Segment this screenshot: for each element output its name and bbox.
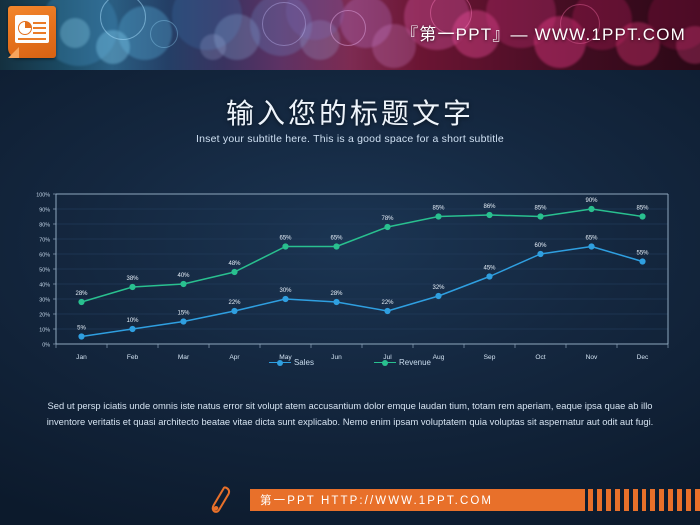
bokeh-circle <box>60 18 90 48</box>
data-label: 65% <box>585 236 598 242</box>
y-axis-label: 0% <box>42 342 50 348</box>
powerpoint-icon-line <box>33 22 46 24</box>
footer-stripe <box>668 489 673 511</box>
footer-stripe <box>650 489 655 511</box>
powerpoint-icon-line <box>33 32 46 34</box>
data-label: 86% <box>483 204 496 210</box>
data-point[interactable] <box>333 299 339 305</box>
footer-stripe <box>633 489 638 511</box>
y-axis-label: 30% <box>39 297 50 303</box>
footer-stripe <box>642 489 647 511</box>
data-label: 90% <box>585 198 598 204</box>
footer-stripe <box>615 489 620 511</box>
powerpoint-icon-document <box>15 15 49 43</box>
data-label: 28% <box>330 291 343 297</box>
data-point[interactable] <box>537 251 543 257</box>
data-label: 60% <box>534 243 547 249</box>
powerpoint-icon-line <box>33 27 46 29</box>
data-label: 5% <box>77 326 86 332</box>
data-point[interactable] <box>639 258 645 264</box>
data-label: 85% <box>636 206 649 212</box>
footer: 第一PPT HTTP://WWW.1PPT.COM <box>0 475 700 525</box>
slide-canvas: 『第一PPT』— WWW.1PPT.COM 输入您的标题文字 Inset you… <box>0 0 700 525</box>
data-point[interactable] <box>180 281 186 287</box>
page-title: 输入您的标题文字 <box>0 92 700 132</box>
data-label: 10% <box>126 318 139 324</box>
y-axis-label: 70% <box>39 237 50 243</box>
legend-marker-sales <box>269 359 291 367</box>
data-point[interactable] <box>78 333 84 339</box>
y-axis-label: 100% <box>36 192 50 198</box>
footer-url-bar: 第一PPT HTTP://WWW.1PPT.COM <box>250 489 585 511</box>
data-point[interactable] <box>282 296 288 302</box>
data-point[interactable] <box>435 293 441 299</box>
data-label: 22% <box>381 300 394 306</box>
legend-label: Revenue <box>399 358 431 367</box>
y-axis-label: 50% <box>39 267 50 273</box>
data-label: 55% <box>636 251 649 257</box>
bokeh-circle <box>200 34 226 60</box>
legend-item-revenue[interactable]: Revenue <box>374 358 431 367</box>
series-line-revenue <box>82 209 643 302</box>
data-point[interactable] <box>78 299 84 305</box>
data-point[interactable] <box>180 318 186 324</box>
chart-value-labels: 5%10%15%22%30%28%22%32%45%60%65%55%28%38… <box>75 198 649 332</box>
series-line-sales <box>82 247 643 337</box>
powerpoint-icon <box>8 6 56 58</box>
data-point[interactable] <box>231 269 237 275</box>
chart-legend: SalesRevenue <box>0 358 700 367</box>
data-label: 78% <box>381 216 394 222</box>
bokeh-ring <box>150 20 178 48</box>
data-point[interactable] <box>129 284 135 290</box>
data-point[interactable] <box>435 213 441 219</box>
chart-series <box>78 206 645 340</box>
chart-gridlines <box>53 194 668 344</box>
powerpoint-icon-pie <box>18 21 32 35</box>
legend-item-sales[interactable]: Sales <box>269 358 314 367</box>
y-axis-label: 60% <box>39 252 50 258</box>
y-axis-label: 90% <box>39 207 50 213</box>
data-label: 15% <box>177 311 190 317</box>
data-label: 22% <box>228 300 241 306</box>
data-point[interactable] <box>486 212 492 218</box>
data-label: 28% <box>75 291 88 297</box>
data-label: 85% <box>534 206 547 212</box>
data-point[interactable] <box>333 243 339 249</box>
footer-stripe <box>677 489 682 511</box>
data-label: 30% <box>279 288 292 294</box>
line-chart: 0%10%20%30%40%50%60%70%80%90%100% 5%10%1… <box>26 186 676 376</box>
data-label: 65% <box>330 236 343 242</box>
legend-marker-revenue <box>374 359 396 367</box>
y-axis-label: 40% <box>39 282 50 288</box>
data-label: 48% <box>228 261 241 267</box>
y-axis-label: 10% <box>39 327 50 333</box>
data-point[interactable] <box>588 206 594 212</box>
chart-x-axis-ticks <box>56 344 668 348</box>
footer-stripe <box>597 489 602 511</box>
footer-stripes <box>588 489 700 511</box>
page-subtitle: Inset your subtitle here. This is a good… <box>0 133 700 145</box>
data-label: 38% <box>126 276 139 282</box>
body-paragraph: Sed ut persp iciatis unde omnis iste nat… <box>34 398 666 430</box>
data-label: 32% <box>432 285 445 291</box>
top-banner: 『第一PPT』— WWW.1PPT.COM <box>0 0 700 70</box>
data-point[interactable] <box>537 213 543 219</box>
footer-stripe <box>606 489 611 511</box>
chart-y-axis-labels: 0%10%20%30%40%50%60%70%80%90%100% <box>36 192 50 348</box>
data-point[interactable] <box>282 243 288 249</box>
footer-stripe <box>624 489 629 511</box>
data-point[interactable] <box>129 326 135 332</box>
legend-label: Sales <box>294 358 314 367</box>
footer-stripe <box>695 489 700 511</box>
data-point[interactable] <box>384 308 390 314</box>
data-label: 40% <box>177 273 190 279</box>
powerpoint-icon-bar <box>18 38 46 40</box>
data-label: 65% <box>279 236 292 242</box>
data-point[interactable] <box>384 224 390 230</box>
footer-stripe <box>588 489 593 511</box>
data-point[interactable] <box>231 308 237 314</box>
bokeh-ring <box>330 10 366 46</box>
footer-stripe <box>686 489 691 511</box>
pen-icon <box>211 486 233 514</box>
y-axis-label: 80% <box>39 222 50 228</box>
footer-stripe <box>659 489 664 511</box>
data-point[interactable] <box>588 243 594 249</box>
data-point[interactable] <box>486 273 492 279</box>
bokeh-ring <box>262 2 306 46</box>
y-axis-label: 20% <box>39 312 50 318</box>
data-point[interactable] <box>639 213 645 219</box>
line-chart-svg: 0%10%20%30%40%50%60%70%80%90%100% 5%10%1… <box>26 186 676 376</box>
data-label: 45% <box>483 266 496 272</box>
data-label: 85% <box>432 206 445 212</box>
banner-site-text: 『第一PPT』— WWW.1PPT.COM <box>401 20 686 45</box>
